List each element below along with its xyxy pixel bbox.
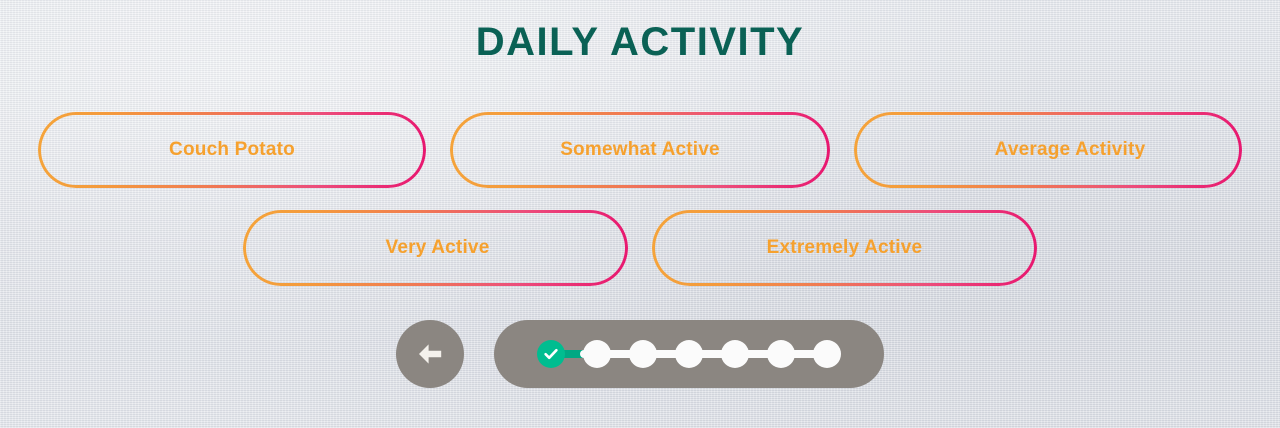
progress-stepper — [494, 320, 884, 388]
page-title: DAILY ACTIVITY — [0, 22, 1280, 62]
option-very-active[interactable]: Very Active — [243, 210, 628, 286]
progress-steps — [528, 337, 850, 371]
option-label: Very Active — [386, 237, 490, 259]
arrow-left-icon — [413, 337, 447, 371]
option-label: Extremely Active — [767, 237, 923, 259]
option-couch-potato[interactable]: Couch Potato — [38, 112, 426, 188]
option-extremely-active[interactable]: Extremely Active — [652, 210, 1037, 286]
app-root: DAILY ACTIVITY Couch Potato Somewhat Act… — [0, 0, 1280, 428]
progress-dot-pending[interactable] — [583, 340, 611, 368]
progress-step-6[interactable] — [758, 340, 804, 368]
option-label: Couch Potato — [169, 139, 295, 161]
progress-step-3[interactable] — [620, 340, 666, 368]
progress-step-1[interactable] — [528, 340, 574, 368]
option-average-activity[interactable]: Average Activity — [854, 112, 1242, 188]
activity-options-row-1: Couch Potato Somewhat Active Average Act… — [0, 112, 1280, 188]
progress-step-4[interactable] — [666, 340, 712, 368]
progress-step-7[interactable] — [804, 340, 850, 368]
progress-dot-pending[interactable] — [675, 340, 703, 368]
back-button[interactable] — [396, 320, 464, 388]
progress-step-5[interactable] — [712, 340, 758, 368]
check-icon — [542, 345, 560, 363]
option-label: Average Activity — [995, 139, 1146, 161]
progress-dot-pending[interactable] — [813, 340, 841, 368]
progress-dot-pending[interactable] — [629, 340, 657, 368]
activity-options-row-2: Very Active Extremely Active — [0, 210, 1280, 286]
option-label: Somewhat Active — [560, 139, 720, 161]
bottom-navigation — [0, 320, 1280, 388]
option-somewhat-active[interactable]: Somewhat Active — [450, 112, 830, 188]
progress-step-2[interactable] — [574, 340, 620, 368]
progress-dot-pending[interactable] — [721, 340, 749, 368]
progress-dot-completed[interactable] — [537, 340, 565, 368]
progress-dot-pending[interactable] — [767, 340, 795, 368]
activity-options-group: Couch Potato Somewhat Active Average Act… — [0, 112, 1280, 286]
